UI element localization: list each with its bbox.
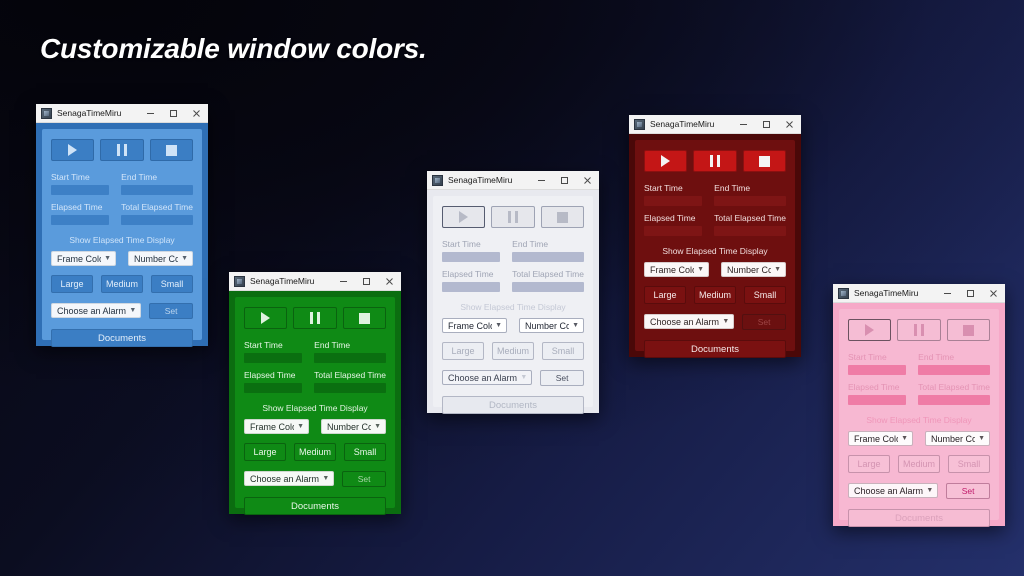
time-fields: Start Time End Time Elapsed Time Total E…: [644, 182, 786, 236]
time-fields: Start Time End Time Elapsed Time Total E…: [244, 339, 386, 393]
field-end-time[interactable]: [714, 196, 786, 206]
window-pink[interactable]: SenagaTimeMiru Start Time End Time Elaps…: [833, 284, 1005, 526]
label-elapsed-time: Elapsed Time: [848, 381, 906, 393]
window-green[interactable]: SenagaTimeMiru Start Time End Time Elaps…: [229, 272, 401, 514]
frame-color-select[interactable]: Frame Color▼: [244, 419, 309, 434]
window-red[interactable]: SenagaTimeMiru Start Time End Time Elaps…: [629, 115, 801, 357]
frame-color-select[interactable]: Frame Color▼: [848, 431, 913, 446]
alarm-select[interactable]: Choose an Alarm▼: [51, 303, 141, 318]
titlebar-buttons[interactable]: [732, 115, 801, 133]
minimize-icon[interactable]: [732, 115, 755, 133]
number-color-select[interactable]: Number Colo▼: [321, 419, 386, 434]
alarm-select[interactable]: Choose an Alarm▼: [848, 483, 938, 498]
field-end-time[interactable]: [314, 353, 386, 363]
size-large-button[interactable]: Large: [244, 443, 286, 461]
titlebar-buttons[interactable]: [139, 104, 208, 122]
label-total-elapsed-time: Total Elapsed Time: [714, 212, 786, 224]
window-blue[interactable]: SenagaTimeMiru Start Time End Time Elaps…: [36, 104, 208, 346]
size-buttons-row[interactable]: Large Medium Small: [442, 342, 584, 360]
app-icon: [838, 288, 849, 299]
documents-button[interactable]: Documents: [644, 340, 786, 358]
frame-color-select[interactable]: Frame Color▼: [644, 262, 709, 277]
alarm-select[interactable]: Choose an Alarm▼: [644, 314, 734, 329]
size-medium-button[interactable]: Medium: [694, 286, 736, 304]
documents-button[interactable]: Documents: [442, 396, 584, 414]
titlebar[interactable]: SenagaTimeMiru: [36, 104, 208, 123]
show-elapsed-time-display-label: Show Elapsed Time Display: [51, 234, 193, 246]
chevron-down-icon: ▼: [181, 255, 188, 262]
pause-icon: [508, 211, 518, 223]
play-icon: [68, 144, 77, 156]
set-button[interactable]: Set: [540, 370, 584, 386]
size-small-button[interactable]: Small: [151, 275, 193, 293]
transport-row[interactable]: [848, 319, 990, 341]
chevron-down-icon: ▼: [297, 423, 304, 430]
stop-icon: [359, 313, 370, 324]
play-icon: [261, 312, 270, 324]
frame-color-select[interactable]: Frame Color▼: [51, 251, 116, 266]
size-small-button[interactable]: Small: [948, 455, 990, 473]
pause-icon: [310, 312, 320, 324]
size-medium-button[interactable]: Medium: [294, 443, 336, 461]
app-icon: [634, 119, 645, 130]
pause-button[interactable]: [100, 139, 143, 161]
label-elapsed-time: Elapsed Time: [644, 212, 702, 224]
play-icon: [865, 324, 874, 336]
transport-row[interactable]: [442, 206, 584, 228]
field-total-elapsed-time[interactable]: [314, 383, 386, 393]
close-icon[interactable]: [576, 171, 599, 189]
pause-icon: [710, 155, 720, 167]
chevron-down-icon: ▼: [322, 475, 329, 482]
window-title: SenagaTimeMiru: [250, 276, 332, 286]
label-end-time: End Time: [714, 182, 786, 194]
size-large-button[interactable]: Large: [848, 455, 890, 473]
chevron-down-icon: ▼: [697, 266, 704, 273]
alarm-select[interactable]: Choose an Alarm▼: [244, 471, 334, 486]
titlebar[interactable]: SenagaTimeMiru: [427, 171, 599, 190]
transport-row[interactable]: [51, 139, 193, 161]
size-small-button[interactable]: Small: [344, 443, 386, 461]
label-total-elapsed-time: Total Elapsed Time: [121, 201, 193, 213]
size-medium-button[interactable]: Medium: [492, 342, 534, 360]
label-start-time: Start Time: [848, 351, 906, 363]
window-title: SenagaTimeMiru: [448, 175, 530, 185]
chevron-down-icon: ▼: [774, 266, 781, 273]
field-end-time[interactable]: [512, 252, 584, 262]
size-large-button[interactable]: Large: [442, 342, 484, 360]
minimize-icon[interactable]: [332, 272, 355, 290]
label-end-time: End Time: [918, 351, 990, 363]
color-selects-row[interactable]: Frame Color▼ Number Colo▼: [244, 419, 386, 434]
chevron-down-icon: ▼: [495, 322, 502, 329]
maximize-icon[interactable]: [162, 104, 185, 122]
label-start-time: Start Time: [51, 171, 109, 183]
pause-button[interactable]: [693, 150, 736, 172]
field-start-time[interactable]: [51, 185, 109, 195]
set-button[interactable]: Set: [742, 314, 786, 330]
field-start-time[interactable]: [244, 353, 302, 363]
size-medium-button[interactable]: Medium: [898, 455, 940, 473]
size-buttons-row[interactable]: Large Medium Small: [848, 455, 990, 473]
app-icon: [432, 175, 443, 186]
number-color-select[interactable]: Number Colo▼: [925, 431, 990, 446]
chevron-down-icon: ▼: [104, 255, 111, 262]
window-title: SenagaTimeMiru: [650, 119, 732, 129]
color-selects-row[interactable]: Frame Color▼ Number Colo▼: [848, 431, 990, 446]
size-small-button[interactable]: Small: [744, 286, 786, 304]
close-icon[interactable]: [778, 115, 801, 133]
theme-panel: Start Time End Time Elapsed Time Total E…: [433, 196, 593, 407]
pause-icon: [914, 324, 924, 336]
label-start-time: Start Time: [442, 238, 500, 250]
window-client-area: Start Time End Time Elapsed Time Total E…: [629, 134, 801, 357]
play-icon: [459, 211, 468, 223]
play-button[interactable]: [848, 319, 891, 341]
label-elapsed-time: Elapsed Time: [51, 201, 109, 213]
frame-color-select[interactable]: Frame Color▼: [442, 318, 507, 333]
stop-button[interactable]: [947, 319, 990, 341]
theme-panel: Start Time End Time Elapsed Time Total E…: [235, 297, 395, 508]
titlebar[interactable]: SenagaTimeMiru: [833, 284, 1005, 303]
field-end-time[interactable]: [121, 185, 193, 195]
alarm-row[interactable]: Choose an Alarm▼ Set: [848, 483, 990, 499]
show-elapsed-time-display-label: Show Elapsed Time Display: [442, 301, 584, 313]
field-start-time[interactable]: [848, 365, 906, 375]
show-elapsed-time-display-label: Show Elapsed Time Display: [848, 414, 990, 426]
time-fields: Start Time End Time Elapsed Time Total E…: [442, 238, 584, 292]
chevron-down-icon: ▼: [901, 435, 908, 442]
field-start-time[interactable]: [442, 252, 500, 262]
chevron-down-icon: ▼: [926, 487, 933, 494]
label-elapsed-time: Elapsed Time: [244, 369, 302, 381]
label-total-elapsed-time: Total Elapsed Time: [314, 369, 386, 381]
chevron-down-icon: ▼: [520, 374, 527, 381]
close-icon[interactable]: [982, 284, 1005, 302]
maximize-icon[interactable]: [553, 171, 576, 189]
size-large-button[interactable]: Large: [644, 286, 686, 304]
play-button[interactable]: [644, 150, 687, 172]
field-total-elapsed-time[interactable]: [918, 395, 990, 405]
close-icon[interactable]: [378, 272, 401, 290]
label-start-time: Start Time: [244, 339, 302, 351]
size-small-button[interactable]: Small: [542, 342, 584, 360]
field-end-time[interactable]: [918, 365, 990, 375]
stop-button[interactable]: [343, 307, 386, 329]
size-buttons-row[interactable]: Large Medium Small: [244, 443, 386, 461]
app-icon: [234, 276, 245, 287]
show-elapsed-time-display-label: Show Elapsed Time Display: [644, 245, 786, 257]
documents-button[interactable]: Documents: [51, 329, 193, 347]
window-client-area: Start Time End Time Elapsed Time Total E…: [229, 291, 401, 514]
window-title: SenagaTimeMiru: [854, 288, 936, 298]
play-button[interactable]: [51, 139, 94, 161]
label-end-time: End Time: [121, 171, 193, 183]
chevron-down-icon: ▼: [722, 318, 729, 325]
pause-button[interactable]: [897, 319, 940, 341]
window-client-area: Start Time End Time Elapsed Time Total E…: [36, 123, 208, 346]
page-title: Customizable window colors.: [40, 33, 427, 65]
size-large-button[interactable]: Large: [51, 275, 93, 293]
field-total-elapsed-time[interactable]: [714, 226, 786, 236]
stop-icon: [166, 145, 177, 156]
label-total-elapsed-time: Total Elapsed Time: [512, 268, 584, 280]
transport-row[interactable]: [644, 150, 786, 172]
window-light[interactable]: SenagaTimeMiru Start Time End Time Elaps…: [427, 171, 599, 413]
theme-panel: Start Time End Time Elapsed Time Total E…: [839, 309, 999, 520]
chevron-down-icon: ▼: [374, 423, 381, 430]
color-selects-row[interactable]: Frame Color▼ Number Colo▼: [644, 262, 786, 277]
transport-row[interactable]: [244, 307, 386, 329]
pause-button[interactable]: [491, 206, 534, 228]
field-total-elapsed-time[interactable]: [121, 215, 193, 225]
label-elapsed-time: Elapsed Time: [442, 268, 500, 280]
size-buttons-row[interactable]: Large Medium Small: [51, 275, 193, 293]
chevron-down-icon: ▼: [129, 307, 136, 314]
theme-panel: Start Time End Time Elapsed Time Total E…: [635, 140, 795, 351]
time-fields: Start Time End Time Elapsed Time Total E…: [848, 351, 990, 405]
documents-button[interactable]: Documents: [848, 509, 990, 527]
titlebar-buttons[interactable]: [936, 284, 1005, 302]
maximize-icon[interactable]: [355, 272, 378, 290]
chevron-down-icon: ▼: [978, 435, 985, 442]
set-button[interactable]: Set: [946, 483, 990, 499]
pause-button[interactable]: [293, 307, 336, 329]
number-color-select[interactable]: Number Colo▼: [721, 262, 786, 277]
size-buttons-row[interactable]: Large Medium Small: [644, 286, 786, 304]
titlebar[interactable]: SenagaTimeMiru: [629, 115, 801, 134]
field-elapsed-time[interactable]: [644, 226, 702, 236]
field-elapsed-time[interactable]: [442, 282, 500, 292]
set-button[interactable]: Set: [149, 303, 193, 319]
minimize-icon[interactable]: [936, 284, 959, 302]
maximize-icon[interactable]: [755, 115, 778, 133]
pause-icon: [117, 144, 127, 156]
field-elapsed-time[interactable]: [244, 383, 302, 393]
window-client-area: Start Time End Time Elapsed Time Total E…: [427, 190, 599, 413]
stop-button[interactable]: [150, 139, 193, 161]
titlebar-buttons[interactable]: [530, 171, 599, 189]
stop-icon: [963, 325, 974, 336]
label-end-time: End Time: [512, 238, 584, 250]
number-color-select[interactable]: Number Colo▼: [128, 251, 193, 266]
field-elapsed-time[interactable]: [51, 215, 109, 225]
play-icon: [661, 155, 670, 167]
window-client-area: Start Time End Time Elapsed Time Total E…: [833, 303, 1005, 526]
number-color-select[interactable]: Number Colo▼: [519, 318, 584, 333]
field-start-time[interactable]: [644, 196, 702, 206]
alarm-row[interactable]: Choose an Alarm▼ Set: [51, 303, 193, 319]
documents-button[interactable]: Documents: [244, 497, 386, 515]
size-medium-button[interactable]: Medium: [101, 275, 143, 293]
stop-button[interactable]: [743, 150, 786, 172]
alarm-row[interactable]: Choose an Alarm▼ Set: [442, 370, 584, 386]
maximize-icon[interactable]: [959, 284, 982, 302]
play-button[interactable]: [442, 206, 485, 228]
close-icon[interactable]: [185, 104, 208, 122]
time-fields: Start Time End Time Elapsed Time Total E…: [51, 171, 193, 225]
titlebar[interactable]: SenagaTimeMiru: [229, 272, 401, 291]
stop-icon: [759, 156, 770, 167]
color-selects-row[interactable]: Frame Color▼ Number Colo▼: [442, 318, 584, 333]
minimize-icon[interactable]: [139, 104, 162, 122]
stop-button[interactable]: [541, 206, 584, 228]
theme-panel: Start Time End Time Elapsed Time Total E…: [42, 129, 202, 340]
titlebar-buttons[interactable]: [332, 272, 401, 290]
alarm-row[interactable]: Choose an Alarm▼ Set: [644, 314, 786, 330]
show-elapsed-time-display-label: Show Elapsed Time Display: [244, 402, 386, 414]
set-button[interactable]: Set: [342, 471, 386, 487]
alarm-row[interactable]: Choose an Alarm▼ Set: [244, 471, 386, 487]
app-icon: [41, 108, 52, 119]
alarm-select[interactable]: Choose an Alarm▼: [442, 370, 532, 385]
chevron-down-icon: ▼: [572, 322, 579, 329]
play-button[interactable]: [244, 307, 287, 329]
label-end-time: End Time: [314, 339, 386, 351]
field-total-elapsed-time[interactable]: [512, 282, 584, 292]
label-start-time: Start Time: [644, 182, 702, 194]
stop-icon: [557, 212, 568, 223]
color-selects-row[interactable]: Frame Color▼ Number Colo▼: [51, 251, 193, 266]
field-elapsed-time[interactable]: [848, 395, 906, 405]
label-total-elapsed-time: Total Elapsed Time: [918, 381, 990, 393]
window-title: SenagaTimeMiru: [57, 108, 139, 118]
minimize-icon[interactable]: [530, 171, 553, 189]
